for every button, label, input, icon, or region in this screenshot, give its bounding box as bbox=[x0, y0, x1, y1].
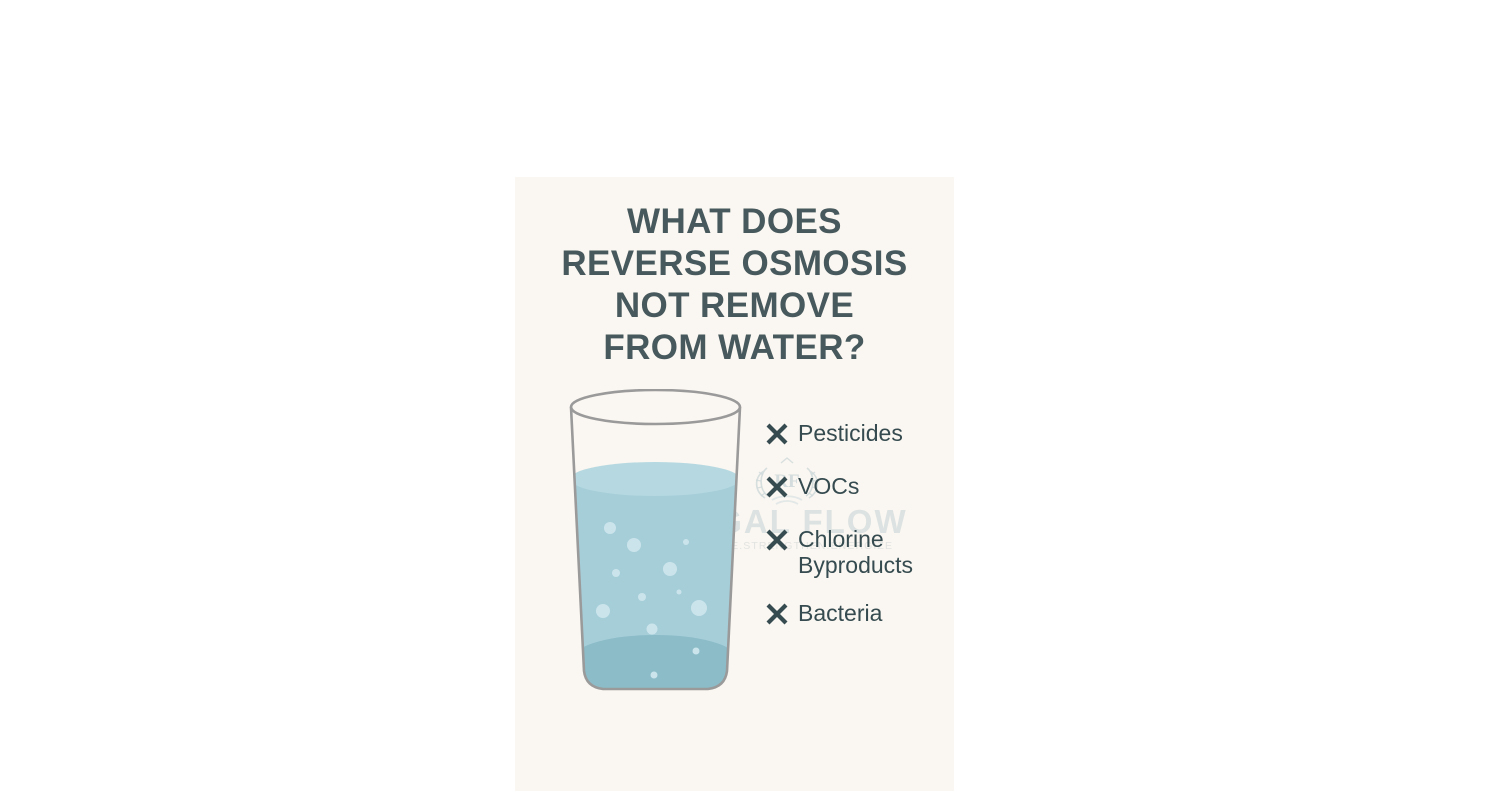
screenshot-canvas: WHAT DOES REVERSE OSMOSIS NOT REMOVE FRO… bbox=[0, 0, 1500, 800]
x-mark-icon bbox=[764, 527, 790, 553]
list-item: Chlorine Byproducts bbox=[764, 526, 954, 578]
glass-rim bbox=[571, 390, 740, 424]
glass-of-water-illustration bbox=[553, 389, 758, 699]
x-mark-icon bbox=[764, 474, 790, 500]
page-title: WHAT DOES REVERSE OSMOSIS NOT REMOVE FRO… bbox=[515, 201, 954, 369]
list-item-label: Bacteria bbox=[798, 600, 882, 626]
contaminant-list: Pesticides VOCs Chlorine Byproducts Bact… bbox=[764, 420, 954, 653]
water-body bbox=[563, 462, 748, 697]
x-mark-icon bbox=[764, 601, 790, 627]
x-mark-icon bbox=[764, 421, 790, 447]
list-item-label: VOCs bbox=[798, 473, 859, 499]
infographic-card: WHAT DOES REVERSE OSMOSIS NOT REMOVE FRO… bbox=[515, 177, 954, 791]
list-item-label: Pesticides bbox=[798, 420, 903, 446]
list-item: Bacteria bbox=[764, 600, 954, 627]
list-item: VOCs bbox=[764, 473, 954, 500]
list-item: Pesticides bbox=[764, 420, 954, 447]
list-item-label: Chlorine Byproducts bbox=[798, 526, 913, 578]
